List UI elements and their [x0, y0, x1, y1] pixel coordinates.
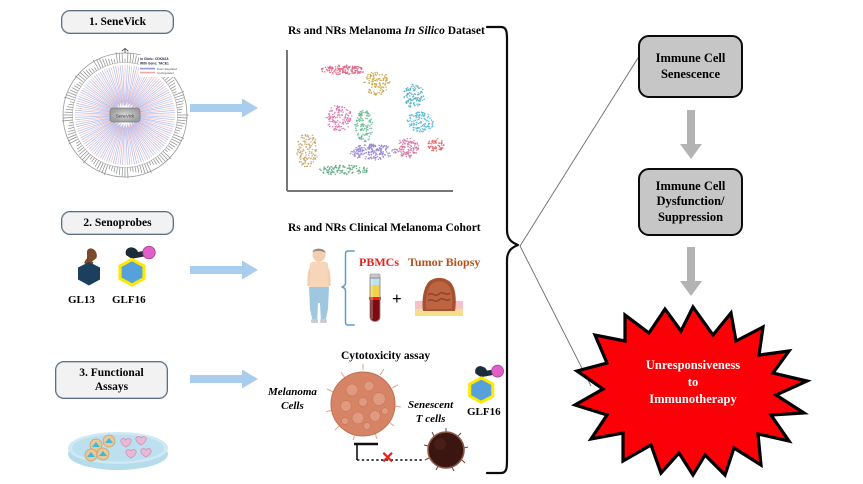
x-mark-icon: ✕: [381, 448, 394, 468]
senoprobe-glf16-icon: [112, 243, 164, 293]
flow-label-immune-cell-senescence: Immune Cell Senescence: [656, 51, 726, 82]
patient-figure-icon: [299, 247, 339, 325]
senoprobe-glf16-label: GLF16: [112, 294, 146, 306]
step-label-senevick: 1. SeneVick: [89, 15, 146, 29]
flow-label-immune-cell-dysfunction: Immune Cell Dysfunction/ Suppression: [656, 179, 726, 226]
cohort-brace: [341, 250, 357, 326]
melanoma-cell-icon: [325, 366, 401, 442]
svg-text:SeneVick: SeneVick: [116, 113, 135, 118]
starburst-label: Unresponsiveness to Immunotherapy: [598, 357, 788, 408]
flow-box-immune-cell-dysfunction[interactable]: Immune Cell Dysfunction/ Suppression: [638, 168, 743, 236]
blood-collection-tube-icon: [364, 273, 386, 327]
label-melanoma-cells: Melanoma Cells: [268, 386, 317, 414]
svg-text:Up-Regulated: Up-Regulated: [157, 71, 174, 75]
figure-canvas: 1. SeneVick 2. Senoprobes 3. Functional …: [0, 0, 863, 484]
step-box-functional-assays[interactable]: 3. Functional Assays: [55, 361, 168, 399]
senoprobe-gl13-icon: [69, 246, 113, 292]
title-part-italic: In Silico: [404, 25, 445, 37]
title-part-b: Dataset: [445, 25, 485, 37]
title-part-a: Rs and NRs Melanoma: [288, 25, 404, 37]
tumor-biopsy-icon: [413, 271, 465, 319]
svg-text:In Clinic: CDKN2A: In Clinic: CDKN2A: [140, 57, 169, 61]
process-arrow-3: [190, 368, 260, 390]
process-arrow-1: [190, 97, 260, 119]
panel-title-clinical-cohort: Rs and NRs Clinical Melanoma Cohort: [288, 222, 481, 234]
sample-label-tumor-biopsy: Tumor Biopsy: [408, 255, 480, 270]
label-senescent-tcells: Senescent T cells: [408, 399, 453, 427]
step-box-senoprobes[interactable]: 2. Senoprobes: [61, 211, 174, 235]
plus-symbol: +: [392, 289, 402, 309]
step-box-senevick[interactable]: 1. SeneVick: [61, 10, 174, 34]
gray-arrow-2: [679, 247, 703, 297]
petri-dish-icon: [63, 418, 173, 474]
process-arrow-2: [190, 259, 260, 281]
gray-arrow-1: [679, 110, 703, 160]
senoprobe-gl13-label: GL13: [68, 294, 95, 306]
svg-text:With Gene: TACE1: With Gene: TACE1: [140, 62, 169, 66]
umap-scatter-plot: [281, 48, 481, 203]
svg-text:Down-Regulated: Down-Regulated: [157, 67, 178, 71]
circos-legend: In Clinic: CDKN2A With Gene: TACE1 Down-…: [139, 55, 197, 77]
step-label-senoprobes: 2. Senoprobes: [83, 216, 151, 230]
step-label-functional-assays: 3. Functional Assays: [79, 366, 144, 394]
panel-title-cytotoxicity: Cytotoxicity assay: [341, 350, 430, 362]
sample-label-pbmcs: PBMCs: [359, 255, 399, 270]
flow-box-immune-cell-senescence[interactable]: Immune Cell Senescence: [638, 35, 743, 98]
panel-title-in-silico: Rs and NRs Melanoma In Silico Dataset: [288, 25, 485, 37]
